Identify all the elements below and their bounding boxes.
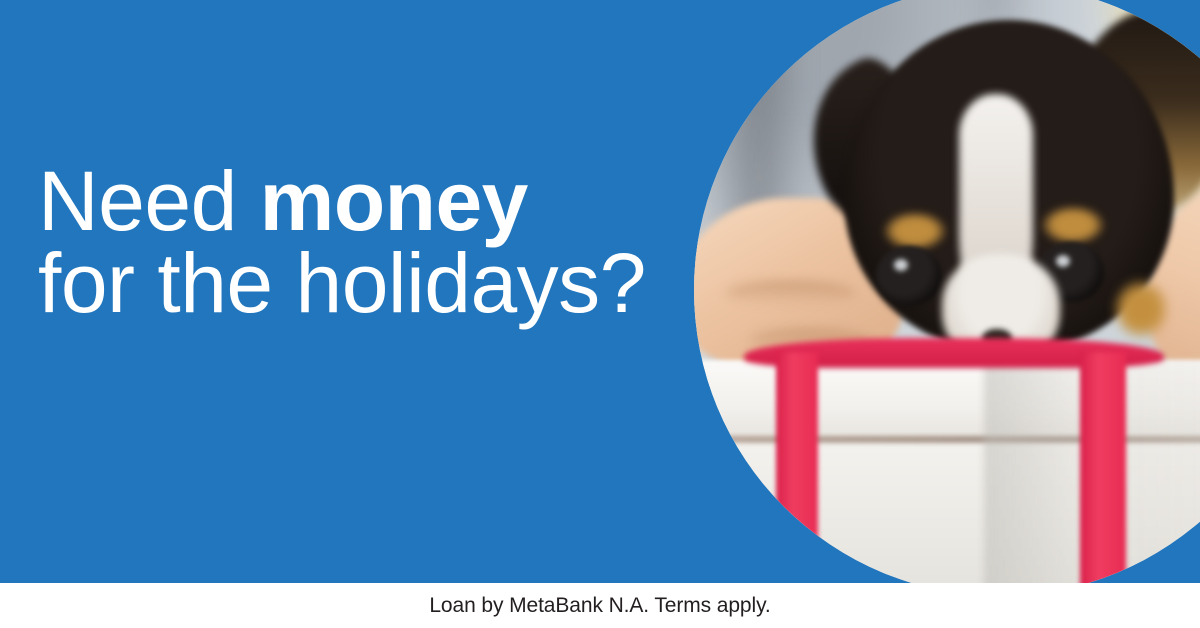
headline-line-2: for the holidays? <box>38 242 698 324</box>
headline-line-1: Need money <box>38 160 698 242</box>
gift-ribbon-left <box>776 352 818 596</box>
promo-banner: Need money for the holidays? Loan by Met… <box>0 0 1200 628</box>
dog-eyebrow-right <box>1042 206 1104 244</box>
hand-left-knuckle-upper <box>726 280 856 306</box>
gift-box <box>694 360 1200 596</box>
footer-bar: Loan by MetaBank N.A. Terms apply. <box>0 583 1200 628</box>
headline-prefix: Need <box>38 154 260 248</box>
headline-emphasis-word: money <box>260 154 528 248</box>
hero-photo-circle <box>694 0 1200 596</box>
dog-cheek-marking <box>1114 280 1168 338</box>
hero-photo-image <box>694 0 1200 596</box>
dog-eye-left <box>876 246 942 306</box>
gift-ribbon-right <box>1080 352 1126 596</box>
headline: Need money for the holidays? <box>38 160 698 325</box>
hero-photo-clip <box>694 0 1200 596</box>
legal-disclaimer: Loan by MetaBank N.A. Terms apply. <box>429 594 770 618</box>
dog-eyebrow-left <box>884 212 946 250</box>
